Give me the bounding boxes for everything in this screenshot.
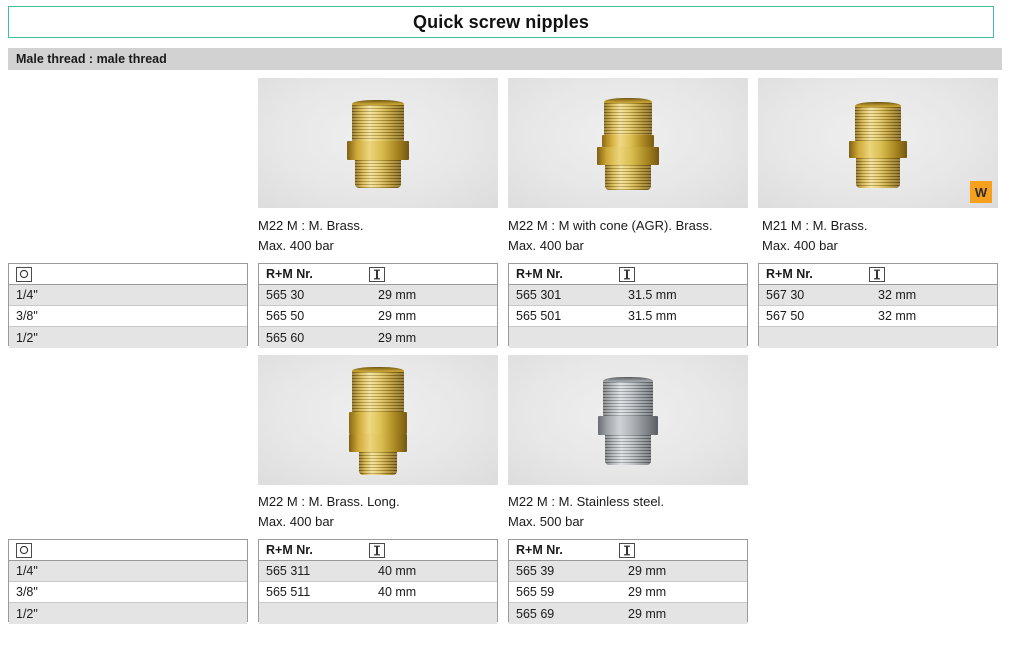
caption-line1: M22 M : M. Stainless steel. xyxy=(508,492,664,512)
nipple-upper-thread xyxy=(855,107,901,141)
part-table-header: R+M Nr. xyxy=(259,264,497,285)
part-table-header: R+M Nr. xyxy=(509,264,747,285)
nipple-long-body xyxy=(349,412,407,434)
nipple-hex-body xyxy=(349,434,407,452)
table-row[interactable]: 565 30 29 mm xyxy=(259,285,497,306)
catalog-page: Quick screw nipples Male thread : male t… xyxy=(0,0,1024,646)
spanner-width-icon xyxy=(619,267,635,282)
nipple-hex-body xyxy=(849,141,907,158)
size-value: 1/2" xyxy=(9,607,38,621)
part-table-m22-brass: R+M Nr. 565 30 29 mm 565 50 29 mm 565 60… xyxy=(258,263,498,346)
caption-m22-cone-agr: M22 M : M with cone (AGR). Brass. Max. 4… xyxy=(508,216,712,256)
table-row[interactable]: 1/4" xyxy=(9,561,247,582)
size-value: 3/8" xyxy=(9,309,38,323)
rm-number-header: R+M Nr. xyxy=(509,543,563,557)
section-title: Male thread : male thread xyxy=(8,52,167,66)
part-table-header: R+M Nr. xyxy=(259,540,497,561)
key-width: 32 mm xyxy=(871,309,916,323)
nipple-upper-thread xyxy=(604,103,652,135)
caption-line2: Max. 400 bar xyxy=(762,236,867,256)
table-row[interactable]: 565 511 40 mm xyxy=(259,582,497,603)
caption-line1: M21 M : M. Brass. xyxy=(762,216,867,236)
key-width: 29 mm xyxy=(371,331,416,345)
table-row[interactable]: 3/8" xyxy=(9,306,247,327)
rm-number-header: R+M Nr. xyxy=(259,267,313,281)
key-width: 40 mm xyxy=(371,585,416,599)
rm-number: 565 50 xyxy=(259,309,371,323)
size-value: 1/4" xyxy=(9,288,38,302)
caption-line2: Max. 400 bar xyxy=(258,512,400,532)
table-row[interactable]: 565 39 29 mm xyxy=(509,561,747,582)
nipple-drawing-long xyxy=(330,367,426,475)
key-width: 40 mm xyxy=(371,564,416,578)
spanner-width-icon xyxy=(369,267,385,282)
caption-m22-brass: M22 M : M. Brass. Max. 400 bar xyxy=(258,216,363,256)
size-value: 3/8" xyxy=(9,585,38,599)
rm-number: 565 301 xyxy=(509,288,621,302)
circle-icon xyxy=(16,543,32,558)
key-width: 32 mm xyxy=(871,288,916,302)
key-width: 31.5 mm xyxy=(621,309,677,323)
table-row[interactable]: 1/2" xyxy=(9,327,247,348)
rm-number: 567 50 xyxy=(759,309,871,323)
rm-number: 565 60 xyxy=(259,331,371,345)
table-row[interactable]: 565 60 29 mm xyxy=(259,327,497,348)
rm-number-header: R+M Nr. xyxy=(509,267,563,281)
key-width: 29 mm xyxy=(621,585,666,599)
product-image-m21-brass: W xyxy=(758,78,998,208)
nipple-hex-body xyxy=(347,141,409,160)
nipple-lower-thread xyxy=(605,165,651,190)
table-row[interactable]: 565 301 31.5 mm xyxy=(509,285,747,306)
nipple-hex-body xyxy=(598,416,658,435)
product-image-m22-brass-long xyxy=(258,355,498,485)
nipple-cone-shoulder xyxy=(602,135,654,147)
rm-number: 565 311 xyxy=(259,564,371,578)
part-table-header: R+M Nr. xyxy=(759,264,997,285)
key-width: 29 mm xyxy=(621,564,666,578)
page-title: Quick screw nipples xyxy=(413,12,589,33)
rm-number: 565 511 xyxy=(259,585,371,599)
size-table-header xyxy=(9,264,247,285)
rm-number: 565 69 xyxy=(509,607,621,621)
part-table-m22-brass-long: R+M Nr. 565 311 40 mm 565 511 40 mm xyxy=(258,539,498,622)
size-value: 1/4" xyxy=(9,564,38,578)
table-row-empty xyxy=(509,327,747,348)
section-band: Male thread : male thread xyxy=(8,48,1002,70)
product-image-m22-brass xyxy=(258,78,498,208)
part-table-m22-cone-agr: R+M Nr. 565 301 31.5 mm 565 501 31.5 mm xyxy=(508,263,748,346)
table-row[interactable]: 567 30 32 mm xyxy=(759,285,997,306)
table-row[interactable]: 565 69 29 mm xyxy=(509,603,747,624)
nipple-lower-thread xyxy=(355,160,401,188)
key-width: 31.5 mm xyxy=(621,288,677,302)
spanner-width-icon xyxy=(619,543,635,558)
rm-number-header: R+M Nr. xyxy=(759,267,813,281)
table-row[interactable]: 565 59 29 mm xyxy=(509,582,747,603)
product-image-m22-cone-agr xyxy=(508,78,748,208)
rm-number: 565 30 xyxy=(259,288,371,302)
product-image-m22-stainless xyxy=(508,355,748,485)
circle-icon xyxy=(16,267,32,282)
size-value: 1/2" xyxy=(9,331,38,345)
part-table-header: R+M Nr. xyxy=(509,540,747,561)
key-width: 29 mm xyxy=(371,288,416,302)
size-table-bottom: 1/4" 3/8" 1/2" xyxy=(8,539,248,622)
nipple-lower-thread xyxy=(856,158,900,188)
caption-line2: Max. 400 bar xyxy=(508,236,712,256)
badge-w-icon: W xyxy=(970,181,992,203)
nipple-drawing-stainless xyxy=(580,377,676,465)
spanner-width-icon xyxy=(369,543,385,558)
rm-number: 565 39 xyxy=(509,564,621,578)
caption-m21-brass: M21 M : M. Brass. Max. 400 bar xyxy=(762,216,867,256)
caption-m22-stainless: M22 M : M. Stainless steel. Max. 500 bar xyxy=(508,492,664,532)
nipple-drawing-brass xyxy=(330,100,426,188)
table-row[interactable]: 567 50 32 mm xyxy=(759,306,997,327)
nipple-lower-thread xyxy=(359,452,397,475)
nipple-lower-thread xyxy=(605,435,651,465)
caption-line2: Max. 400 bar xyxy=(258,236,363,256)
rm-number-header: R+M Nr. xyxy=(259,543,313,557)
nipple-upper-thread xyxy=(603,382,653,416)
spanner-width-icon xyxy=(869,267,885,282)
caption-line1: M22 M : M. Brass. Long. xyxy=(258,492,400,512)
table-row[interactable]: 565 501 31.5 mm xyxy=(509,306,747,327)
table-row[interactable]: 565 50 29 mm xyxy=(259,306,497,327)
table-row[interactable]: 565 311 40 mm xyxy=(259,561,497,582)
rm-number: 567 30 xyxy=(759,288,871,302)
table-row[interactable]: 3/8" xyxy=(9,582,247,603)
table-row[interactable]: 1/4" xyxy=(9,285,247,306)
page-title-box: Quick screw nipples xyxy=(8,6,994,38)
part-table-m22-stainless: R+M Nr. 565 39 29 mm 565 59 29 mm 565 69… xyxy=(508,539,748,622)
size-table-header xyxy=(9,540,247,561)
nipple-hex-body xyxy=(597,147,659,165)
caption-line1: M22 M : M. Brass. xyxy=(258,216,363,236)
table-row-empty xyxy=(759,327,997,348)
nipple-drawing-m21 xyxy=(830,102,926,188)
table-row[interactable]: 1/2" xyxy=(9,603,247,624)
key-width: 29 mm xyxy=(621,607,666,621)
size-table-top: 1/4" 3/8" 1/2" xyxy=(8,263,248,346)
key-width: 29 mm xyxy=(371,309,416,323)
rm-number: 565 59 xyxy=(509,585,621,599)
caption-line1: M22 M : M with cone (AGR). Brass. xyxy=(508,216,712,236)
table-row-empty xyxy=(259,603,497,624)
nipple-upper-thread xyxy=(352,105,404,141)
part-table-m21-brass: R+M Nr. 567 30 32 mm 567 50 32 mm xyxy=(758,263,998,346)
rm-number: 565 501 xyxy=(509,309,621,323)
nipple-drawing-cone xyxy=(580,98,676,190)
caption-m22-brass-long: M22 M : M. Brass. Long. Max. 400 bar xyxy=(258,492,400,532)
caption-line2: Max. 500 bar xyxy=(508,512,664,532)
nipple-upper-thread xyxy=(352,372,404,412)
